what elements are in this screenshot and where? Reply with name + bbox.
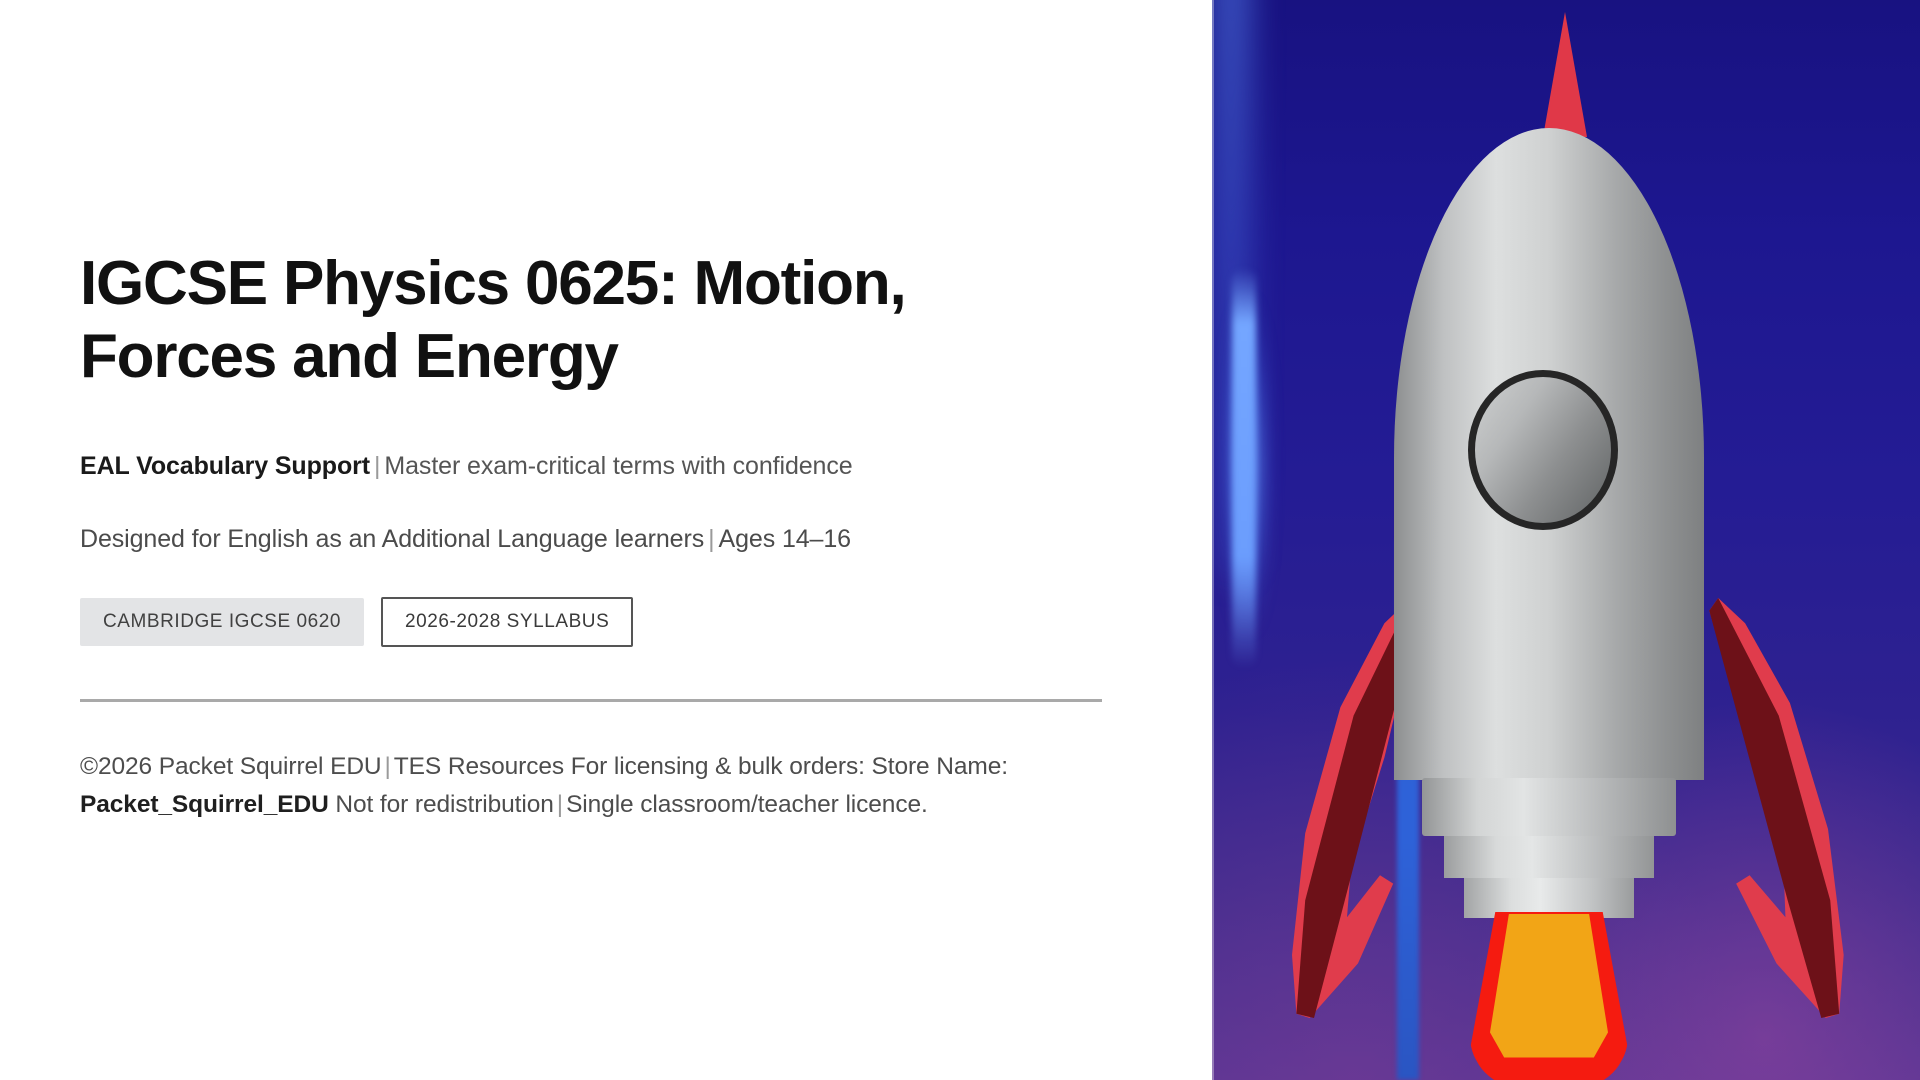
rocket-flame-inner-icon bbox=[1490, 914, 1608, 1062]
audience-tail: Ages 14–16 bbox=[719, 525, 851, 553]
blue-light-streak-icon bbox=[1232, 268, 1256, 668]
divider bbox=[80, 699, 1102, 702]
audience-line: Designed for English as an Additional La… bbox=[80, 522, 1100, 557]
rocket-engine-skirt-1-icon bbox=[1422, 778, 1676, 836]
status-badge-syllabus-years[interactable]: 2026-2028 SYLLABUS bbox=[381, 597, 633, 647]
footer-store-info: TES Resources For licensing & bulk order… bbox=[394, 753, 1008, 780]
page-title: IGCSE Physics 0625: Motion, Forces and E… bbox=[80, 247, 1080, 393]
footer-licence-scope: Single classroom/teacher licence. bbox=[566, 791, 928, 818]
subtitle-lead: EAL Vocabulary Support bbox=[80, 452, 370, 480]
rocket-window-glass-icon bbox=[1475, 377, 1611, 523]
subtitle-tail: Master exam-critical terms with confiden… bbox=[384, 452, 852, 480]
audience-lead: Designed for English as an Additional La… bbox=[80, 525, 704, 553]
rocket-engine-skirt-2-icon bbox=[1444, 836, 1654, 878]
subtitle-separator: | bbox=[370, 452, 384, 480]
rocket-body-mid-icon bbox=[1394, 660, 1704, 780]
rocket-artwork-panel bbox=[1212, 0, 1920, 1080]
footer-copyright: ©2026 Packet Squirrel EDU bbox=[80, 753, 382, 780]
status-badge-syllabus-code[interactable]: CAMBRIDGE IGCSE 0620 bbox=[80, 598, 364, 646]
footer-redistribution-note: Not for redistribution bbox=[335, 791, 553, 818]
footer-licence-text: ©2026 Packet Squirrel EDU|TES Resources … bbox=[80, 748, 1080, 822]
footer-store-name: Packet_Squirrel_EDU bbox=[80, 791, 329, 818]
audience-separator: | bbox=[704, 525, 718, 553]
content-wrapper: IGCSE Physics 0625: Motion, Forces and E… bbox=[80, 247, 1100, 823]
text-panel: IGCSE Physics 0625: Motion, Forces and E… bbox=[0, 0, 1212, 1080]
rocket-nose-spike-icon bbox=[1543, 12, 1587, 137]
badge-row: CAMBRIDGE IGCSE 0620 2026-2028 SYLLABUS bbox=[80, 597, 1100, 647]
footer-separator-2: | bbox=[554, 791, 566, 818]
panel-edge-divider bbox=[1212, 0, 1214, 1080]
footer-separator-1: | bbox=[382, 753, 394, 780]
title-slide: IGCSE Physics 0625: Motion, Forces and E… bbox=[0, 0, 1920, 1080]
subtitle: EAL Vocabulary Support|Master exam-criti… bbox=[80, 449, 1100, 484]
rocket-icon bbox=[1286, 0, 1846, 1080]
